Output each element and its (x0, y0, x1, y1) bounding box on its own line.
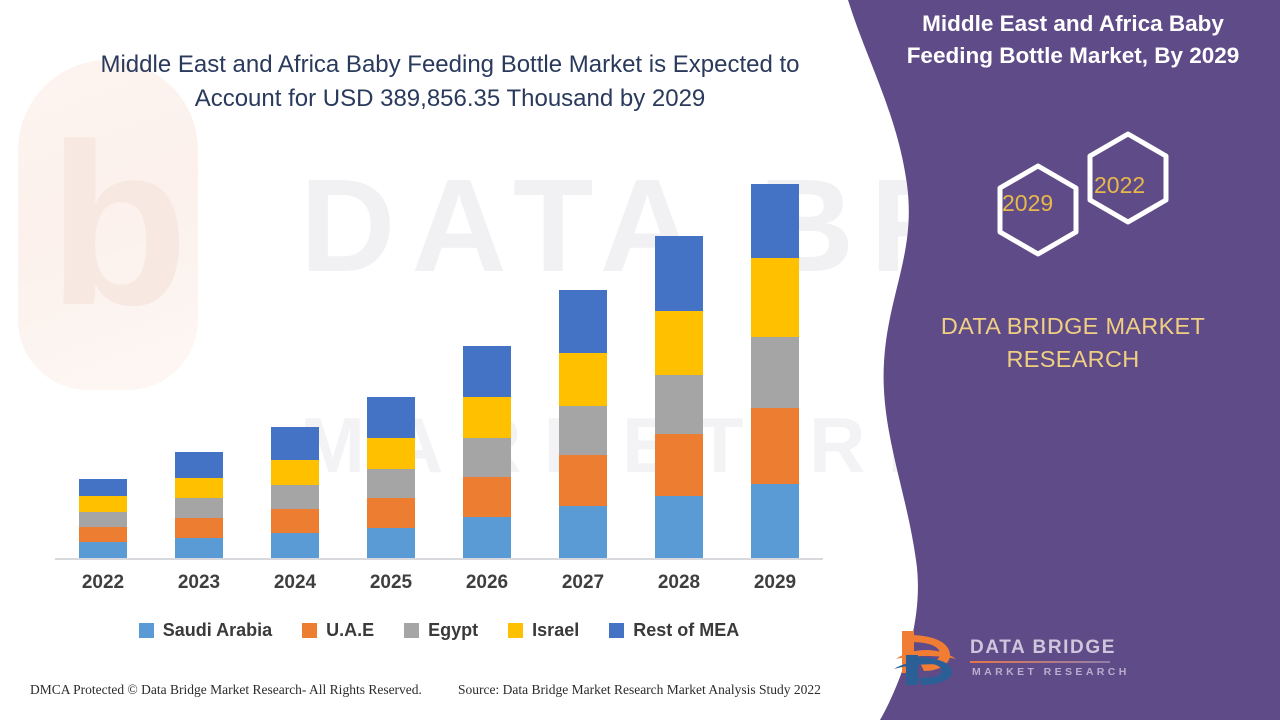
bar-segment-saudi-arabia-2026[interactable] (463, 517, 511, 558)
x-axis-label-2024: 2024 (247, 572, 343, 594)
bar-segment-egypt-2028[interactable] (655, 375, 703, 434)
hexagon-badges: 2022 2029 (970, 128, 1200, 288)
bar-series-container (55, 140, 823, 558)
bar-segment-saudi-arabia-2027[interactable] (559, 506, 607, 558)
bar-segment-israel-2025[interactable] (367, 438, 415, 469)
bar-group-2027 (535, 290, 631, 558)
x-axis-label-2026: 2026 (439, 572, 535, 594)
legend-item-rest-of-mea[interactable]: Rest of MEA (609, 620, 739, 641)
brand-name: DATA BRIDGE MARKET RESEARCH (875, 310, 1271, 377)
bar-segment-rest-of-mea-2026[interactable] (463, 346, 511, 396)
legend-label-israel: Israel (532, 620, 579, 641)
bar-group-2025 (343, 397, 439, 558)
x-axis-label-2027: 2027 (535, 572, 631, 594)
dbmr-logo-mark (890, 625, 968, 689)
bar-group-2029 (727, 184, 823, 558)
x-axis-labels: 20222023202420252026202720282029 (55, 572, 823, 594)
bar-segment-u-a-e-2023[interactable] (175, 518, 223, 538)
bar-segment-saudi-arabia-2028[interactable] (655, 496, 703, 558)
bar-segment-israel-2027[interactable] (559, 353, 607, 406)
bar-segment-rest-of-mea-2027[interactable] (559, 290, 607, 353)
legend-item-israel[interactable]: Israel (508, 620, 579, 641)
legend-swatch-u-a-e (302, 623, 317, 638)
legend-swatch-egypt (404, 623, 419, 638)
x-axis-label-2022: 2022 (55, 572, 151, 594)
bar-segment-rest-of-mea-2023[interactable] (175, 452, 223, 478)
bar-segment-egypt-2026[interactable] (463, 438, 511, 477)
footer-dmca-notice: DMCA Protected © Data Bridge Market Rese… (30, 682, 422, 698)
bar-segment-israel-2023[interactable] (175, 478, 223, 499)
panel-title: Middle East and Africa Baby Feeding Bott… (890, 8, 1256, 73)
x-axis-label-2029: 2029 (727, 572, 823, 594)
bar-segment-egypt-2024[interactable] (271, 485, 319, 509)
bar-segment-egypt-2025[interactable] (367, 469, 415, 498)
bar-segment-u-a-e-2028[interactable] (655, 434, 703, 495)
dbmr-logo: DATA BRIDGE MARKET RESEARCH (890, 625, 1120, 697)
legend-label-u-a-e: U.A.E (326, 620, 374, 641)
bar-segment-saudi-arabia-2022[interactable] (79, 542, 127, 558)
stacked-bar-2024[interactable] (271, 427, 319, 558)
footer: DMCA Protected © Data Bridge Market Rese… (0, 682, 860, 712)
hexagon-2022-label: 2022 (1094, 172, 1145, 199)
bar-segment-israel-2024[interactable] (271, 460, 319, 485)
bar-segment-rest-of-mea-2025[interactable] (367, 397, 415, 438)
x-axis-label-2028: 2028 (631, 572, 727, 594)
bar-segment-saudi-arabia-2029[interactable] (751, 484, 799, 558)
chart-legend: Saudi ArabiaU.A.EEgyptIsraelRest of MEA (55, 615, 823, 645)
bar-segment-u-a-e-2024[interactable] (271, 509, 319, 533)
legend-label-egypt: Egypt (428, 620, 478, 641)
dbmr-logo-title: DATA BRIDGE (970, 637, 1116, 659)
bar-segment-u-a-e-2027[interactable] (559, 455, 607, 506)
bar-segment-saudi-arabia-2025[interactable] (367, 528, 415, 558)
x-axis-line (55, 558, 823, 560)
brand-panel-content: Middle East and Africa Baby Feeding Bott… (860, 0, 1280, 720)
stacked-bar-2023[interactable] (175, 452, 223, 558)
bar-segment-rest-of-mea-2029[interactable] (751, 184, 799, 258)
bar-segment-egypt-2027[interactable] (559, 406, 607, 455)
dbmr-logo-subtitle: MARKET RESEARCH (972, 666, 1130, 678)
legend-item-u-a-e[interactable]: U.A.E (302, 620, 374, 641)
bar-segment-rest-of-mea-2022[interactable] (79, 479, 127, 496)
bar-segment-egypt-2029[interactable] (751, 337, 799, 408)
bar-group-2023 (151, 452, 247, 558)
bar-group-2026 (439, 346, 535, 558)
stacked-bar-2026[interactable] (463, 346, 511, 558)
bar-segment-israel-2029[interactable] (751, 258, 799, 337)
hexagon-2029-label: 2029 (1002, 190, 1053, 217)
bar-segment-u-a-e-2029[interactable] (751, 408, 799, 484)
stacked-bar-2027[interactable] (559, 290, 607, 558)
stacked-bar-2025[interactable] (367, 397, 415, 558)
legend-swatch-saudi-arabia (139, 623, 154, 638)
page-title: Middle East and Africa Baby Feeding Bott… (70, 48, 830, 116)
plot-area (40, 140, 830, 560)
legend-item-saudi-arabia[interactable]: Saudi Arabia (139, 620, 272, 641)
legend-swatch-rest-of-mea (609, 623, 624, 638)
bar-segment-israel-2028[interactable] (655, 311, 703, 374)
bar-segment-egypt-2022[interactable] (79, 512, 127, 527)
stacked-bar-2029[interactable] (751, 184, 799, 558)
x-axis-label-2025: 2025 (343, 572, 439, 594)
bar-segment-u-a-e-2026[interactable] (463, 477, 511, 517)
bar-group-2024 (247, 427, 343, 558)
legend-label-saudi-arabia: Saudi Arabia (163, 620, 272, 641)
bar-segment-u-a-e-2025[interactable] (367, 498, 415, 528)
bar-segment-israel-2022[interactable] (79, 496, 127, 512)
stacked-bar-2028[interactable] (655, 236, 703, 558)
stacked-bar-2022[interactable] (79, 479, 127, 558)
legend-swatch-israel (508, 623, 523, 638)
bar-segment-saudi-arabia-2023[interactable] (175, 538, 223, 558)
legend-item-egypt[interactable]: Egypt (404, 620, 478, 641)
bar-segment-u-a-e-2022[interactable] (79, 527, 127, 542)
dbmr-logo-divider (970, 661, 1110, 663)
chart-panel: Middle East and Africa Baby Feeding Bott… (0, 0, 860, 720)
bar-segment-saudi-arabia-2024[interactable] (271, 533, 319, 558)
bar-segment-rest-of-mea-2028[interactable] (655, 236, 703, 311)
bar-segment-rest-of-mea-2024[interactable] (271, 427, 319, 460)
footer-source-note: Source: Data Bridge Market Research Mark… (458, 682, 821, 698)
legend-label-rest-of-mea: Rest of MEA (633, 620, 739, 641)
bar-segment-israel-2026[interactable] (463, 397, 511, 438)
x-axis-label-2023: 2023 (151, 572, 247, 594)
bar-group-2022 (55, 479, 151, 558)
bar-segment-egypt-2023[interactable] (175, 498, 223, 517)
bar-group-2028 (631, 236, 727, 558)
